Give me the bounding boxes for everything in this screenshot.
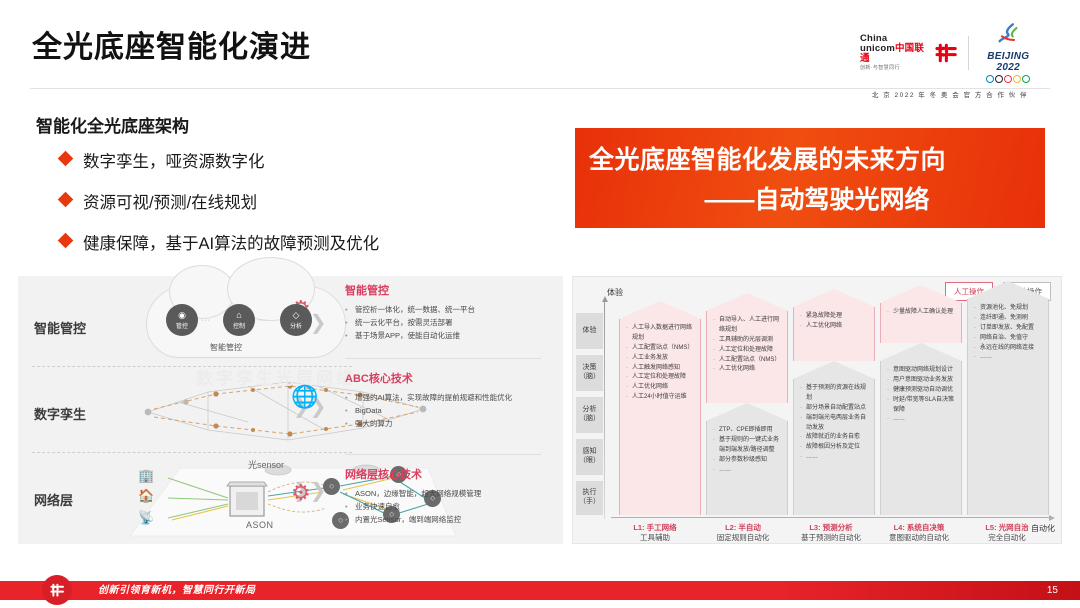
stage-cap [619,301,701,319]
level-l3: L3: 预测分析 基于预测的自动化 [787,523,875,543]
tech-block-title: 网络层核心技术 [345,466,545,482]
layer-divider [32,452,352,453]
stage-item: 时延/带宽等SLA自决策保障 [886,396,956,416]
stage-item: …… [886,415,956,425]
stage-item: 意图驱动网络规划设计 [886,366,956,376]
stage-l2-manual: 自动导入、人工进行网络规划 工具辅助的光层调测 人工定位和处理故障 人工配置站点… [706,293,788,403]
layer-label-control: 智能管控 [34,318,86,337]
stage-cap [793,361,875,379]
unicom-knot-icon [47,580,67,600]
globe-icon: 🌐 [291,384,318,410]
tech-block-abc: 🌐 ABC核心技术 增强的AI算法，实现故障的提前规避和性能优化 BigData… [345,370,545,430]
tech-divider [345,358,541,359]
row-label-analysis: 分析 （脑） [576,397,603,433]
twin-ghost-text: 数字孪生光层网络 [196,364,356,389]
row-label-perception: 感知 （眼） [576,439,603,475]
level-l1: L1: 手工网络 工具辅助 [611,523,699,543]
connector-dots: ··· [258,317,268,324]
cloud-node-label: 控制 [233,321,245,330]
tech-item: 管控析一体化，统一数据、统一平台 [345,303,545,316]
building-icon: 🏢 [138,468,154,484]
bullet-list: 数字孪生，哑资源数字化 资源可视/预测/在线规划 健康保障，基于AI算法的故障预… [60,148,379,271]
stage-l3-auto: 基于预测的资源在线规划 部分场景自动配置站点 端到端光电两层业务自动发放 故障就… [793,361,875,515]
stage-item: 健康预测驱动自动调优 [886,386,956,396]
bullet-text: 健康保障，基于AI算法的故障预测及优化 [83,230,379,254]
banner-line-1: 全光底座智能化发展的未来方向 [589,140,1045,176]
tech-item: 统一云化平台，按需灵活部署 [345,316,545,329]
list-item: 数字孪生，哑资源数字化 [60,148,379,172]
tech-item: 强大的算力 [345,417,545,430]
beijing-2022-text: BEIJING 2022 [977,51,1040,73]
stage-item: 端到端光电两层业务自动发放 [799,414,869,434]
footer-unicom-logo [42,575,72,605]
connector-dots: ··· [201,317,211,324]
row-label-line2: （脑） [579,373,600,382]
tech-item: BigData [345,404,545,417]
footer: 创新引领育新机，智慧同行开新局 15 [0,574,1080,608]
tech-divider [345,454,541,455]
unicom-slogan: 创新·与智慧同行 [860,66,928,71]
stage-item: 资源池化、免规划 [973,304,1043,314]
stage-item: 订单即发放、免配置 [973,324,1043,334]
antenna-icon: 📡 [138,510,154,526]
level-subtitle: 固定规则自动化 [699,533,787,543]
unicom-knot-icon [932,38,960,68]
level-subtitle: 意图驱动的自动化 [875,533,963,543]
stage-l4-manual: 少量故障人工确认处理 [880,285,962,343]
level-title: L5: 光网自治 [963,523,1051,533]
cloud-node-manage: ⌂ 控制 [223,304,255,336]
stage-body: 资源池化、免规划 连纤即通、免测刷 订单即发放、免配置 网络自治、免值守 永远在… [967,299,1049,515]
stage-cap [706,403,788,421]
stage-body: 少量故障人工确认处理 [880,303,962,343]
stage-cap [880,343,962,361]
stage-item: 故障根因分析及定位 [799,443,869,453]
stage-body: ZTP、CPE即插即用 基于规则的一键式业务端到端发放/路径调整 部分参数秒级感… [706,421,788,515]
cloud-caption: 智能管控 [210,342,242,353]
stage-l4-auto: 意图驱动网络规划设计 用户意图驱动业务发放 健康预测驱动自动调优 时延/带宽等S… [880,343,962,515]
tech-item: 业务快速自愈 [345,500,545,513]
stage-item: 人工优化网络 [625,383,695,393]
diamond-bullet-icon [58,192,74,208]
stage-item: 人工定位和处理故障 [712,346,782,356]
row-label-line1: 体验 [583,327,597,336]
stage-l5-auto: 资源池化、免规划 连纤即通、免测刷 订单即发放、免配置 网络自治、免值守 永远在… [967,281,1049,515]
stage-item: 人工业务发放 [625,354,695,364]
stage-body: 意图驱动网络规划设计 用户意图驱动业务发放 健康预测驱动自动调优 时延/带宽等S… [880,361,962,515]
banner-line-2: ——自动驾驶光网络 [589,180,1045,216]
level-title: L3: 预测分析 [787,523,875,533]
page-title: 全光底座智能化演进 [32,22,311,66]
stage-item: 人工配置站点（NMS） [625,344,695,354]
stage-item: 部分场景自动配置站点 [799,404,869,414]
level-title: L1: 手工网络 [611,523,699,533]
stage-item: 永远在线的网络连接 [973,344,1043,354]
stage-item: 紧急故障处理 [799,312,869,322]
stage-body: 自动导入、人工进行网络规划 工具辅助的光层调测 人工定位和处理故障 人工配置站点… [706,311,788,403]
olympic-partner-text: 北 京 2022 年 冬 奥 会 官 方 合 作 伙 伴 [860,89,1040,99]
y-axis-label: 体验 [607,287,623,298]
bullet-text: 数字孪生，哑资源数字化 [83,148,265,172]
slide: 全光底座智能化演进 China unicom中国联通 创新·与智慧同行 [0,0,1080,608]
level-title: L4: 系统自决策 [875,523,963,533]
row-label-line2: （眼） [579,457,600,466]
tech-block-control: ⚙ 智能管控 管控析一体化，统一数据、统一平台 统一云化平台，按需灵活部署 基于… [345,282,545,342]
stage-body: 基于预测的资源在线规划 部分场景自动配置站点 端到端光电两层业务自动发放 故障就… [793,379,875,515]
stage-item: 人工定位和处理故障 [625,373,695,383]
stage-item: …… [712,466,782,476]
stage-item: 人工触发网络感知 [625,364,695,374]
stage-item: 基于预测的资源在线规划 [799,384,869,404]
house-icon: ⌂ [236,311,241,320]
level-l5: L5: 光网自治 完全自动化 [963,523,1051,543]
stage-item: 故障就近的业务自愈 [799,433,869,443]
stage-item: 人工导入数据进行网络规划 [625,324,695,344]
list-item: 资源可视/预测/在线规划 [60,189,379,213]
diamond-bullet-icon [58,233,74,249]
tech-item: 基于场景APP，使能自动化运维 [345,329,545,342]
stage-item: 网络自治、免值守 [973,334,1043,344]
stage-item: 用户意图驱动业务发放 [886,376,956,386]
stage-item: 部分参数秒级感知 [712,456,782,466]
stage-l3-manual: 紧急故障处理 人工优化网络 [793,289,875,361]
tech-item: ASON，边缘智能，超大网络规模管理 [345,487,545,500]
tech-item: 内置光Sensor，端到端网络监控 [345,513,545,526]
stage-item: ZTP、CPE即插即用 [712,426,782,436]
stage-item: 人工24小时值守运维 [625,393,695,403]
level-subtitle: 完全自动化 [963,533,1051,543]
list-item: 健康保障，基于AI算法的故障预测及优化 [60,230,379,254]
stage-item: …… [973,353,1043,363]
level-subtitle: 工具辅助 [611,533,699,543]
stage-item: 人工优化网络 [712,365,782,375]
logo-block: China unicom中国联通 创新·与智慧同行 [860,22,1040,99]
diamond-icon: ◇ [293,311,300,320]
stage-l2-auto: ZTP、CPE即插即用 基于规则的一键式业务端到端发放/路径调整 部分参数秒级感… [706,403,788,515]
row-label-line1: 分析 [583,406,597,415]
stage-l1-manual: 人工导入数据进行网络规划 人工配置站点（NMS） 人工业务发放 人工触发网络感知… [619,301,701,515]
tech-item: 增强的AI算法，实现故障的提前规避和性能优化 [345,391,545,404]
tech-block-network: ⚙ 网络层核心技术 ASON，边缘智能，超大网络规模管理 业务快速自愈 内置光S… [345,466,545,526]
house-icon: 🏠 [138,488,154,504]
stage-item: 工具辅助的光层调测 [712,336,782,346]
stage-item: 人工优化网络 [799,322,869,332]
row-label-experience: 体验 [576,313,603,349]
stage-cap [967,281,1049,299]
stage-item: 人工配置站点（NMS） [712,356,782,366]
y-axis [604,301,605,519]
level-labels: L1: 手工网络 工具辅助 L2: 半自动 固定规则自动化 L3: 预测分析 基… [611,523,1051,543]
footer-slogan: 创新引领育新机，智慧同行开新局 [98,581,256,596]
row-label-line2: （手） [579,498,600,507]
stage-item: …… [799,453,869,463]
row-label-line1: 感知 [583,448,597,457]
stage-item: 基于规则的一键式业务端到端发放/路径调整 [712,436,782,456]
stage-item: 连纤即通、免测刷 [973,314,1043,324]
olympic-rings-icon [977,75,1040,83]
ason-label: ASON [246,520,274,530]
row-label-line2: （脑） [579,415,600,424]
section-title: 智能化全光底座架构 [36,112,189,137]
level-title: L2: 半自动 [699,523,787,533]
level-l4: L4: 系统自决策 意图驱动的自动化 [875,523,963,543]
stage-item: 自动导入、人工进行网络规划 [712,316,782,336]
highlight-banner: 全光底座智能化发展的未来方向 ——自动驾驶光网络 [575,128,1045,228]
autonomy-level-chart: 体验 自动化 人工操作 自动操作 体验 决策 （脑） 分析 （脑） 感知 （眼）… [572,276,1062,544]
tech-block-title: ABC核心技术 [345,370,545,386]
beijing-emblem-icon [990,22,1026,46]
gear-icon: ⚙ [291,480,311,506]
cloud-node-label: 分析 [290,321,302,330]
stage-body: 紧急故障处理 人工优化网络 [793,307,875,361]
stage-cap [793,289,875,307]
stage-body: 人工导入数据进行网络规划 人工配置站点（NMS） 人工业务发放 人工触发网络感知… [619,319,701,515]
level-l2: L2: 半自动 固定规则自动化 [699,523,787,543]
level-subtitle: 基于预测的自动化 [787,533,875,543]
row-label-line1: 决策 [583,364,597,373]
stage-cap [706,293,788,311]
tech-block-title: 智能管控 [345,282,545,298]
cloud-node-control: ◉ 管控 [166,304,198,336]
row-label-decision: 决策 （脑） [576,355,603,391]
cloud-node-analyze: ◇ 分析 [280,304,312,336]
beijing-2022-logo: BEIJING 2022 [977,22,1040,83]
cloud-node-label: 管控 [176,321,188,330]
page-number: 15 [1047,585,1058,596]
layer-label-twin: 数字孪生 [34,404,86,423]
layer-label-network: 网络层 [34,490,73,509]
stage-item: 少量故障人工确认处理 [886,308,956,318]
row-label-execution: 执行 （手） [576,481,603,515]
bullet-text: 资源可视/预测/在线规划 [83,189,257,213]
stage-cap [880,285,962,303]
china-unicom-logo: China unicom中国联通 创新·与智慧同行 [860,34,960,71]
diamond-bullet-icon [58,151,74,167]
sensor-label: 光sensor [248,458,284,471]
gear-icon: ◉ [178,311,186,320]
logo-divider [968,36,969,70]
x-axis [611,517,1051,518]
row-label-line1: 执行 [583,489,597,498]
